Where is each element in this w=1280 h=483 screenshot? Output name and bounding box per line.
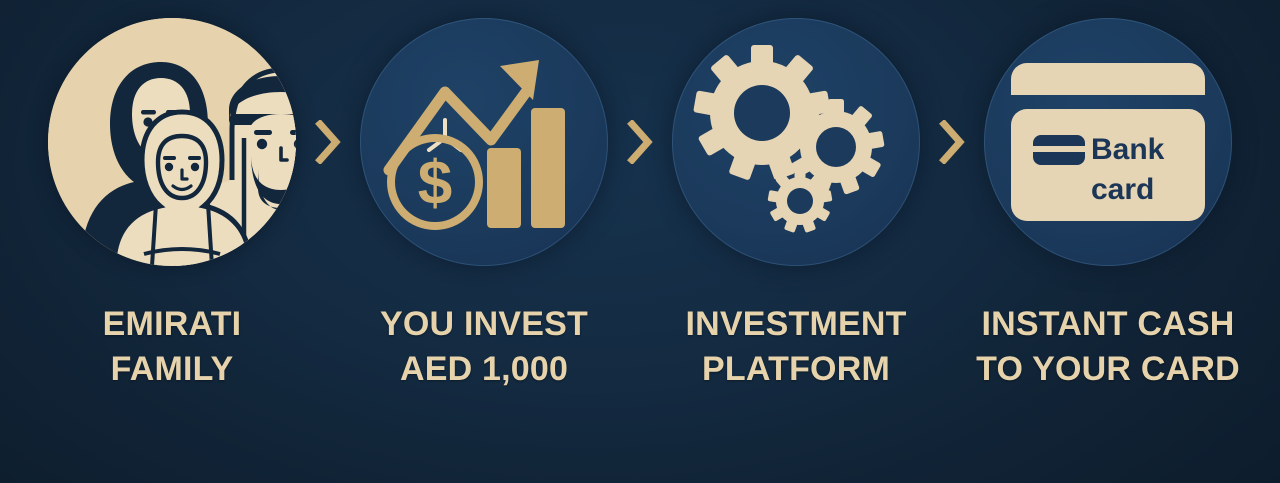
chevron-right-icon [939,120,965,164]
chevron-right-icon [315,120,341,164]
chevron-right-icon [627,120,653,164]
emirati-family-icon [48,18,296,266]
step-caption: YOU INVEST AED 1,000 [380,302,588,392]
investment-platform-disc [672,18,920,266]
step-emirati-family[interactable]: EMIRATI FAMILY [38,18,306,392]
bank-card-line1: Bank [1091,133,1165,166]
step-caption: INSTANT CASH TO YOUR CARD [976,302,1240,392]
steps-row: EMIRATI FAMILY [38,18,1242,392]
step-you-invest[interactable]: $ YOU INVEST AED 1,000 [350,18,618,392]
step-caption: INVESTMENT PLATFORM [685,302,906,392]
instant-cash-disc: Bank card [984,18,1232,266]
card-chip [1033,135,1085,165]
chevron-1 [306,18,350,266]
growth-chart-money-icon: $ [379,42,589,242]
step-instant-cash[interactable]: Bank card INSTANT CASH TO YOUR CARD [974,18,1242,392]
gears-icon [696,47,896,237]
emirati-family-disc [48,18,296,266]
chevron-3 [930,18,974,266]
infographic-flow: EMIRATI FAMILY [0,0,1280,483]
step-caption: EMIRATI FAMILY [103,302,242,392]
you-invest-disc: $ [360,18,608,266]
chevron-2 [618,18,662,266]
bank-card-line2: card [1091,173,1154,206]
step-investment-platform[interactable]: INVESTMENT PLATFORM [662,18,930,392]
bank-card-icon: Bank card [1005,57,1211,227]
svg-text:$: $ [418,149,452,218]
